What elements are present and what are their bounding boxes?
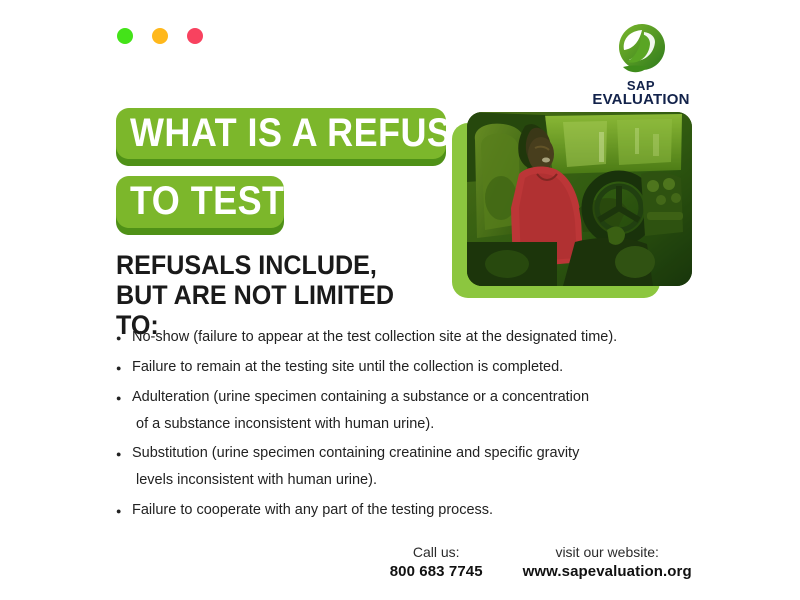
logo-line-sap: SAP xyxy=(586,79,696,92)
footer-contact: Call us: 800 683 7745 visit our website:… xyxy=(380,543,700,582)
footer-website-column: visit our website: www.sapevaluation.org xyxy=(514,543,700,582)
bullet-text: Failure to remain at the testing site un… xyxy=(132,359,563,375)
refusal-bullet-list: No-show (failure to appear at the test c… xyxy=(116,328,716,531)
call-label: Call us: xyxy=(380,543,492,562)
dot-green-icon[interactable] xyxy=(117,28,133,44)
bullet-text-continued: of a substance inconsistent with human u… xyxy=(132,415,716,434)
window-dots xyxy=(117,28,203,44)
headline-text-line2: TO TEST? xyxy=(130,182,256,220)
list-item: No-show (failure to appear at the test c… xyxy=(116,328,716,347)
truck-driver-photo xyxy=(467,112,692,286)
list-item: Failure to cooperate with any part of th… xyxy=(116,501,716,520)
bullet-text: Failure to cooperate with any part of th… xyxy=(132,502,493,518)
dot-red-icon[interactable] xyxy=(187,28,203,44)
headline-banner-line1: WHAT IS A REFUSAL xyxy=(116,108,446,159)
list-item: Substitution (urine specimen containing … xyxy=(116,444,716,490)
list-item: Failure to remain at the testing site un… xyxy=(116,358,716,377)
photo-block xyxy=(452,112,692,298)
website-label: visit our website: xyxy=(514,543,700,562)
brand-logo[interactable]: SAP EVALUATION xyxy=(586,22,696,108)
phone-number[interactable]: 800 683 7745 xyxy=(380,562,492,582)
bullet-text: No-show (failure to appear at the test c… xyxy=(132,329,617,345)
truck-driver-photo-image xyxy=(467,112,692,286)
website-url[interactable]: www.sapevaluation.org xyxy=(514,562,700,582)
headline-banner-line2: TO TEST? xyxy=(116,176,284,227)
bullet-text: Adulteration (urine specimen containing … xyxy=(132,389,589,405)
bullet-text-continued: levels inconsistent with human urine). xyxy=(132,471,716,490)
leaf-circle-logo-icon xyxy=(608,22,674,78)
headline-text-line1: WHAT IS A REFUSAL xyxy=(130,114,402,152)
dot-amber-icon[interactable] xyxy=(152,28,168,44)
headline: WHAT IS A REFUSAL TO TEST? xyxy=(116,108,446,245)
footer-call-column: Call us: 800 683 7745 xyxy=(380,543,492,582)
logo-line-evaluation: EVALUATION xyxy=(586,92,696,107)
list-item: Adulteration (urine specimen containing … xyxy=(116,388,716,434)
bullet-text: Substitution (urine specimen containing … xyxy=(132,445,579,461)
